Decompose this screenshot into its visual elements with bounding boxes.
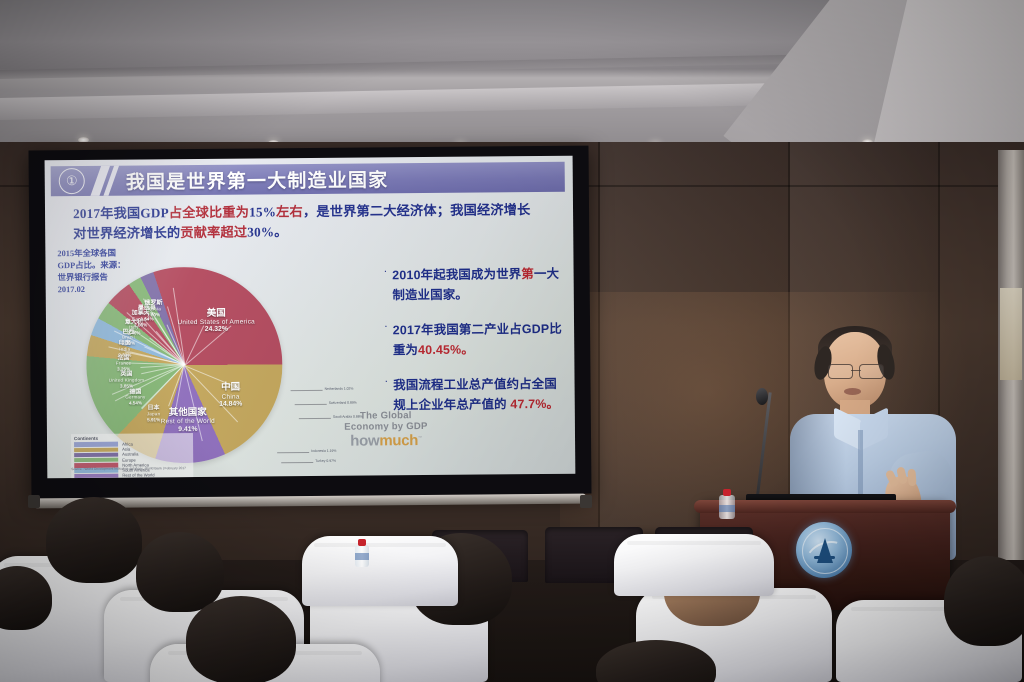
- lead-text-run: 贡献率超过: [180, 225, 247, 241]
- slide-bullet: ·2010年起我国成为世界第一大制造业国家。: [384, 264, 566, 306]
- audience-seat: [302, 536, 458, 606]
- legend-swatch: [74, 458, 118, 463]
- water-bottle: [719, 489, 735, 519]
- roller-end-cap: [580, 495, 592, 508]
- leader-label: Turkey 0.97%: [315, 459, 336, 463]
- leader-line: [295, 404, 327, 405]
- ceiling: [0, 0, 1024, 150]
- roller-end-cap: [28, 495, 40, 508]
- presenter-mouth: [844, 388, 861, 395]
- slide-bullet: ·我国流程工业总产值约占全国规上企业年总产值的 47.7%。: [384, 374, 566, 416]
- legend-swatch: [74, 452, 118, 457]
- bullet-text-run: 第: [521, 267, 534, 281]
- presenter-finger: [907, 469, 916, 487]
- leader-label: Netherlands 1.02%: [325, 387, 354, 391]
- pillar-light-panel: [1000, 288, 1022, 380]
- lead-text-run: 30%。: [247, 225, 288, 240]
- leader-label: Switzerland 0.89%: [329, 401, 357, 405]
- lead-text-run: 左右: [276, 204, 303, 219]
- bullet-marker: ·: [384, 321, 388, 361]
- leader-line: [277, 452, 309, 453]
- legend-swatch: [74, 447, 118, 452]
- bullet-text-run: 40.45%。: [418, 343, 474, 357]
- wordmark-much: much: [379, 433, 418, 450]
- emblem-letter-a: [817, 538, 833, 563]
- bullet-marker: ·: [384, 376, 388, 416]
- microphone-head: [756, 388, 768, 405]
- legend-item: Rest of the World: [74, 472, 190, 478]
- chart-legend: Continents AfricaAsiaAustraliaEuropeNort…: [71, 433, 193, 478]
- audience-head: [136, 532, 224, 612]
- slide-title-bar: ① 我国是世界第一大制造业国家: [51, 162, 565, 196]
- audience-seat: [614, 534, 774, 596]
- bullet-text: 2017年我国第二产业占GDP比重为40.45%。: [393, 319, 567, 361]
- bottle-label: [355, 553, 369, 560]
- slide-title: 我国是世界第一大制造业国家: [126, 165, 389, 194]
- leader-line: [291, 390, 323, 391]
- gdp-pie-chart: 美国United States of America24.32%中国China1…: [61, 262, 363, 473]
- bottle-cap: [358, 539, 366, 546]
- bullet-text: 2010年起我国成为世界第一大制造业国家。: [392, 264, 566, 306]
- lead-text-run: 占全球比重为: [169, 205, 249, 221]
- legend-swatch: [74, 473, 118, 478]
- bullet-text: 我国流程工业总产值约占全国规上企业年总产值的 47.7%。: [393, 374, 567, 416]
- podium-emblem-icon: [796, 522, 852, 578]
- slide-lead-paragraph: 2017年我国GDP占全球比重为15%左右，是世界第二大经济体；我国经济增长对世…: [73, 200, 535, 245]
- bottle-label: [719, 505, 735, 512]
- bottle-cap: [723, 489, 731, 496]
- slide-bullet-list: ·2010年起我国成为世界第一大制造业国家。·2017年我国第二产业占GDP比重…: [384, 264, 567, 431]
- slide-bullet: ·2017年我国第二产业占GDP比重为40.45%。: [384, 319, 566, 361]
- audience-head: [944, 556, 1024, 646]
- leader-line: [281, 462, 313, 463]
- legend-swatch: [74, 442, 118, 447]
- legend-label: Rest of the World: [122, 473, 154, 478]
- right-pillar: [998, 150, 1024, 610]
- projection-screen-frame: ① 我国是世界第一大制造业国家 2017年我国GDP占全球比重为15%左右，是世…: [28, 146, 591, 499]
- lead-text-run: 15%: [249, 204, 276, 219]
- projection-screen: ① 我国是世界第一大制造业国家 2017年我国GDP占全球比重为15%左右，是世…: [45, 156, 576, 479]
- presenter-eyeglasses: [828, 364, 884, 377]
- presentation-slide: ① 我国是世界第一大制造业国家 2017年我国GDP占全球比重为15%左右，是世…: [45, 156, 576, 479]
- trademark-symbol: ™: [418, 435, 422, 440]
- brand-wordmark: howmuch™: [331, 432, 441, 450]
- legend-title: Continents: [74, 435, 190, 441]
- audience-head: [186, 596, 296, 682]
- bullet-marker: ·: [384, 265, 388, 305]
- wordmark-how: how: [350, 433, 379, 450]
- audience-head: [46, 497, 142, 583]
- emblem-base-bar: [814, 556, 835, 559]
- slide-number-badge: ①: [59, 168, 85, 194]
- conference-photo-scene: ① 我国是世界第一大制造业国家 2017年我国GDP占全球比重为15%左右，是世…: [0, 0, 1024, 682]
- legend-rows: AfricaAsiaAustraliaEuropeNorth AmericaSo…: [74, 441, 190, 478]
- source-note-line: 2015年全球各国: [57, 247, 153, 260]
- water-bottle: [355, 539, 369, 567]
- bullet-text-run: 2010年起我国成为世界: [392, 267, 521, 282]
- bullet-text-run: 47.7%。: [510, 397, 559, 411]
- leader-line: [299, 418, 331, 419]
- lead-text-run: 2017年我国GDP: [73, 205, 169, 221]
